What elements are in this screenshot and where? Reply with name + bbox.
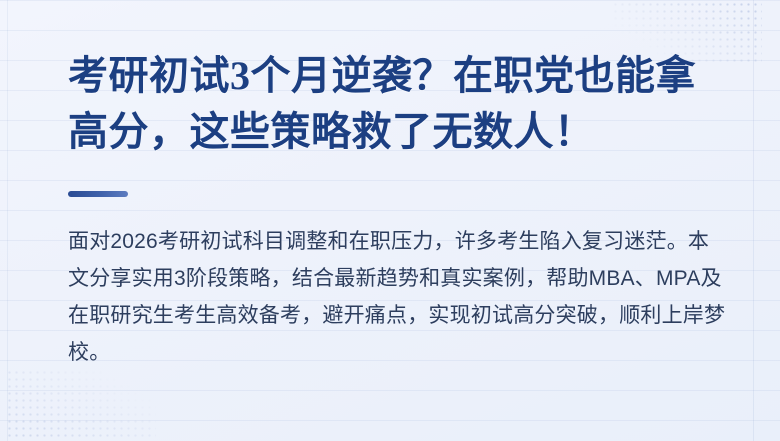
dot-grid-bottom-left-icon	[6, 369, 156, 437]
article-summary: 面对2026考研初试科目调整和在职压力，许多考生陷入复习迷茫。本文分享实用3阶段…	[68, 197, 726, 371]
page-title: 考研初试3个月逆袭？在职党也能拿高分，这些策略救了无数人！	[68, 0, 726, 160]
cover-content: 考研初试3个月逆袭？在职党也能拿高分，这些策略救了无数人！ 面对2026考研初试…	[0, 0, 780, 371]
dotted-edge-bottom	[0, 436, 780, 438]
article-cover-card: 考研初试3个月逆袭？在职党也能拿高分，这些策略救了无数人！ 面对2026考研初试…	[0, 0, 780, 441]
